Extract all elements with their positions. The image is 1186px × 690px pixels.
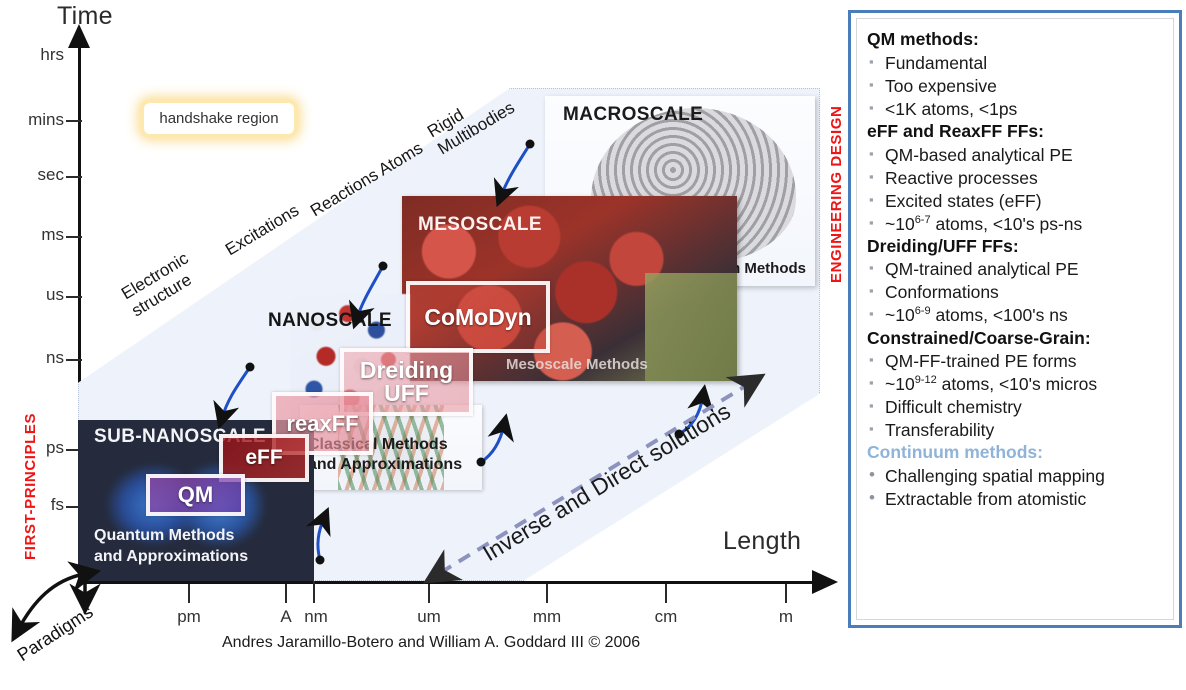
legend-heading-4: Continuum methods: (867, 442, 1165, 464)
legend-item: ▪QM-FF-trained PE forms (867, 350, 1165, 372)
legend-item-text: Extractable from atomistic (885, 488, 1165, 510)
legend-item-text: <1K atoms, <1ps (885, 98, 1165, 120)
legend-item: ▪~109-12 atoms, <10's micros (867, 373, 1165, 395)
legend-item-text: ~106-9 atoms, <100's ns (885, 304, 1165, 326)
legend-item-text: Transferability (885, 419, 1165, 441)
bullet-square-icon: ▪ (867, 396, 885, 416)
legend-item-text: Excited states (eFF) (885, 190, 1165, 212)
legend-item-text: Difficult chemistry (885, 396, 1165, 418)
legend-item: ▪Transferability (867, 419, 1165, 441)
legend-item-text: Reactive processes (885, 167, 1165, 189)
legend-heading-2: Dreiding/UFF FFs: (867, 236, 1165, 258)
legend-item-text: QM-FF-trained PE forms (885, 350, 1165, 372)
legend-heading-3: Constrained/Coarse-Grain: (867, 328, 1165, 350)
legend-item: •Extractable from atomistic (867, 488, 1165, 510)
bullet-square-icon: ▪ (867, 304, 885, 324)
legend-item: ▪<1K atoms, <1ps (867, 98, 1165, 120)
legend-item: •Challenging spatial mapping (867, 465, 1165, 487)
bullet-round-icon: • (867, 465, 885, 485)
legend-item: ▪Reactive processes (867, 167, 1165, 189)
legend-item-text: Conformations (885, 281, 1165, 303)
legend-item-text: QM-based analytical PE (885, 144, 1165, 166)
legend-item: ▪Fundamental (867, 52, 1165, 74)
bullet-square-icon: ▪ (867, 373, 885, 393)
bullet-square-icon: ▪ (867, 350, 885, 370)
legend-item-text: QM-trained analytical PE (885, 258, 1165, 280)
legend-item: ▪Conformations (867, 281, 1165, 303)
legend-item-text: Challenging spatial mapping (885, 465, 1165, 487)
bullet-square-icon: ▪ (867, 258, 885, 278)
legend-content: QM methods:▪Fundamental▪Too expensive▪<1… (856, 18, 1174, 620)
legend-heading-0: QM methods: (867, 29, 1165, 51)
legend-item: ▪Difficult chemistry (867, 396, 1165, 418)
legend-item: ▪QM-trained analytical PE (867, 258, 1165, 280)
bullet-square-icon: ▪ (867, 419, 885, 439)
legend-item: ▪Excited states (eFF) (867, 190, 1165, 212)
legend-item-text: ~106-7 atoms, <10's ps-ns (885, 213, 1165, 235)
legend-item: ▪QM-based analytical PE (867, 144, 1165, 166)
legend-item-text: Too expensive (885, 75, 1165, 97)
bullet-square-icon: ▪ (867, 213, 885, 233)
legend-item: ▪Too expensive (867, 75, 1165, 97)
legend-item-text: ~109-12 atoms, <10's micros (885, 373, 1165, 395)
bullet-square-icon: ▪ (867, 167, 885, 187)
bullet-square-icon: ▪ (867, 281, 885, 301)
legend-item-text: Fundamental (885, 52, 1165, 74)
bullet-square-icon: ▪ (867, 75, 885, 95)
legend-panel: QM methods:▪Fundamental▪Too expensive▪<1… (848, 10, 1182, 628)
bullet-square-icon: ▪ (867, 190, 885, 210)
bullet-square-icon: ▪ (867, 144, 885, 164)
legend-heading-1: eFF and ReaxFF FFs: (867, 121, 1165, 143)
bullet-round-icon: • (867, 488, 885, 508)
bullet-square-icon: ▪ (867, 98, 885, 118)
diagram-canvas: Time Length hrs mins sec ms us ns ps fs … (0, 0, 1186, 690)
legend-item: ▪~106-7 atoms, <10's ps-ns (867, 213, 1165, 235)
bullet-square-icon: ▪ (867, 52, 885, 72)
legend-item: ▪~106-9 atoms, <100's ns (867, 304, 1165, 326)
figure-caption: Andres Jaramillo-Botero and William A. G… (222, 634, 640, 652)
